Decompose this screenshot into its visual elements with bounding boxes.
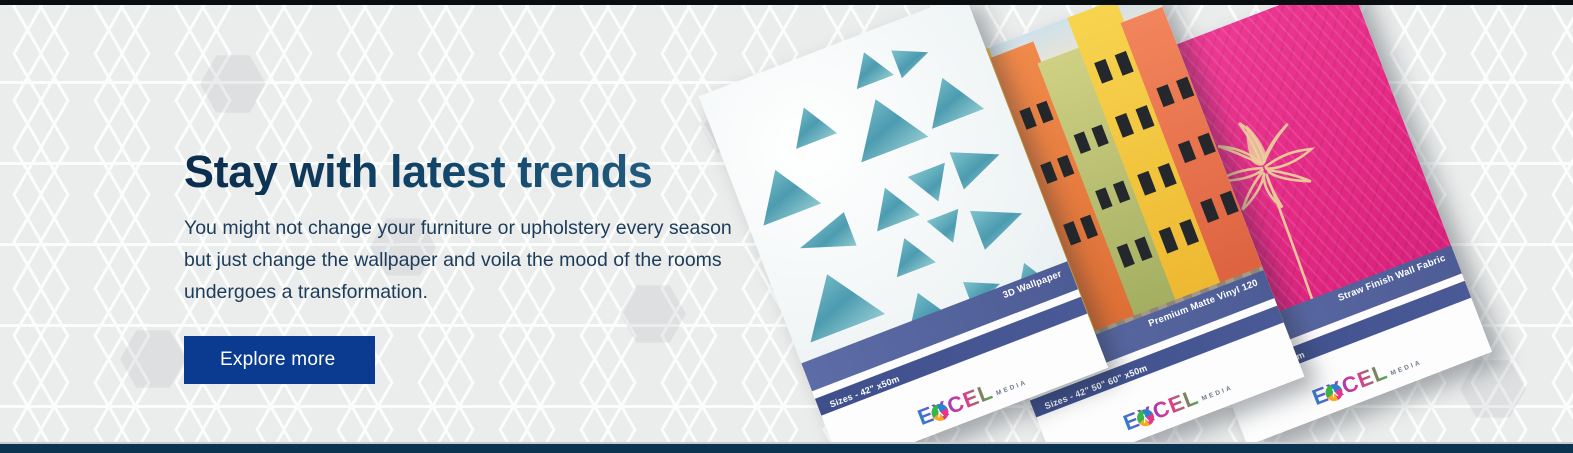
banner-description: You might not change your furniture or u… — [184, 213, 750, 308]
explore-more-button[interactable]: Explore more — [184, 336, 375, 384]
wallpaper-samples-group: Straw Finish Wall Fabric Sizes - 54" x50… — [735, 0, 1573, 453]
bottom-divider — [0, 444, 1573, 453]
page-title: Stay with latest trends — [184, 148, 764, 195]
banner-copy: Stay with latest trends You might not ch… — [184, 148, 764, 384]
top-divider — [0, 0, 1573, 5]
promo-banner: Stay with latest trends You might not ch… — [0, 0, 1573, 453]
